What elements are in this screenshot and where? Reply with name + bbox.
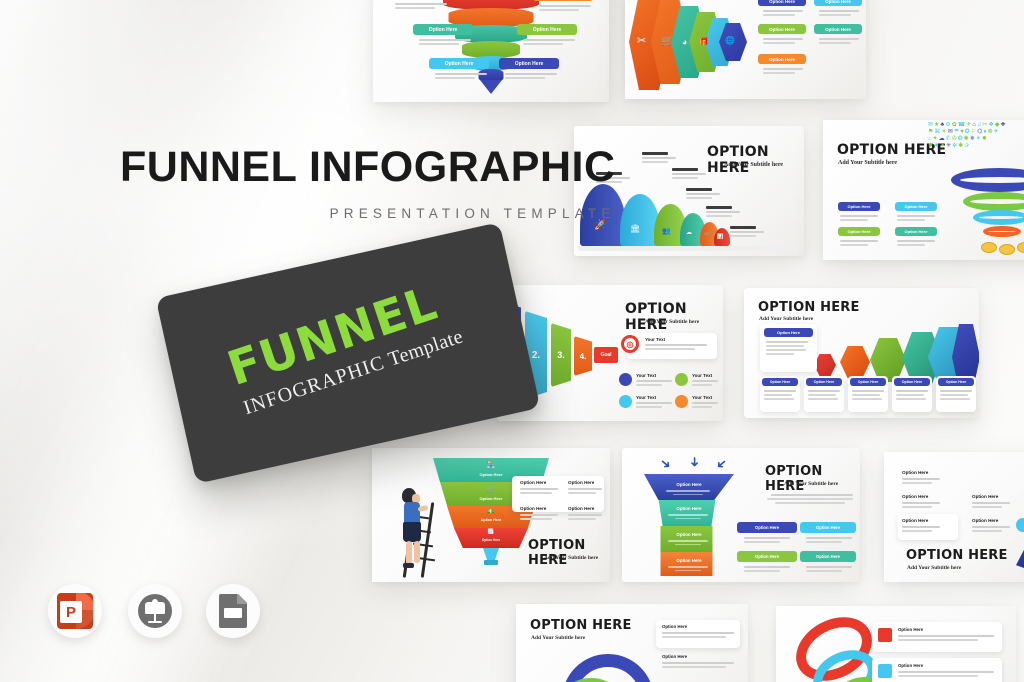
desc-lines	[764, 390, 796, 402]
band-label: Option Here	[676, 558, 701, 563]
slide-subtitle: Add Your Subtitle here	[544, 555, 598, 561]
item-label: Option Here	[662, 624, 687, 629]
item-label: Option Here	[662, 654, 687, 659]
slide-hex-progress[interactable]: OPTION HERE Add Your Subtitle here Optio…	[744, 288, 979, 418]
cart-icon: 🛒	[487, 485, 496, 493]
option-badge[interactable]: Option Here	[499, 58, 559, 69]
shop-icon	[619, 395, 632, 408]
option-badge[interactable]: Option Here	[758, 24, 806, 34]
desc-lines	[435, 73, 487, 81]
rocket-icon: 🚀	[594, 220, 606, 231]
option-badge[interactable]: Option Here	[413, 24, 473, 35]
band-label: Option Here	[676, 482, 701, 487]
badge-label: Option Here	[769, 27, 795, 32]
cart-icon: 🛒	[704, 232, 710, 238]
badge-label: Option Here	[905, 229, 928, 234]
desc-lines	[819, 38, 859, 46]
icon-cloud: ✉★♣⚙✿☎✈⌂♫✂❖◆✚ ⚑⌘☀✉☂♥✪⚐⌬♦❁✈ ⌂✦☁✆✇❂✺✵✴✹ ✸✷…	[928, 122, 1024, 172]
band-label: Option Here	[676, 506, 701, 511]
desc-lines	[568, 514, 602, 522]
desc-lines	[902, 478, 940, 486]
badge-label: Option Here	[946, 380, 967, 384]
pie-icon: ◕	[682, 37, 687, 47]
megaphone-icon	[878, 664, 892, 678]
desc-lines	[539, 5, 591, 13]
badge-label: Option Here	[905, 204, 928, 209]
step-label: 4.	[580, 352, 587, 361]
badge-label: Option Here	[825, 0, 851, 4]
desc-lines	[972, 502, 1010, 510]
badge-label: Option Here	[755, 525, 779, 530]
desc-lines	[897, 215, 935, 223]
money-icon: 💵	[487, 508, 494, 515]
app-badge-powerpoint[interactable]: P	[48, 584, 102, 638]
desc-lines	[419, 39, 471, 47]
item-label: Option Here	[902, 470, 928, 475]
desc-lines	[898, 635, 994, 643]
option-badge[interactable]: Option Here	[938, 378, 974, 386]
badge-label: Option Here	[770, 380, 791, 384]
badge-label: Option Here	[825, 27, 851, 32]
desc-lines	[636, 380, 672, 388]
badge-label: Option Here	[777, 330, 800, 335]
badge-label: Option Here	[858, 380, 879, 384]
slide-subtitle: Add Your Subtitle here	[531, 635, 585, 641]
desc-lines	[645, 344, 707, 352]
rocket-icon	[675, 395, 688, 408]
item-label: Option Here	[520, 480, 546, 485]
ring-3	[973, 210, 1024, 225]
slide-title: OPTION HERE	[707, 144, 804, 176]
app-badge-google-slides[interactable]	[206, 584, 260, 638]
keynote-icon	[138, 594, 172, 628]
option-badge[interactable]: Option Here	[814, 0, 862, 6]
slide-cone-funnel[interactable]: Option Here Option Here Option Here Opti…	[373, 0, 609, 102]
slide-loop-rings[interactable]: Option Here Option Here Option Here	[776, 606, 1016, 682]
slide-title: OPTION HERE	[530, 618, 632, 633]
badge-label: Option Here	[848, 204, 871, 209]
desc-lines	[666, 490, 710, 497]
desc-lines	[692, 380, 718, 388]
badge-label: Option Here	[848, 229, 871, 234]
item-label: Your Text	[692, 373, 712, 378]
slide-subtitle: Add Your Subtitle here	[784, 481, 838, 487]
badge-label: Option Here	[816, 525, 840, 530]
desc-lines	[806, 566, 852, 574]
option-badge[interactable]: Option Here	[806, 378, 842, 386]
woman-ladder-illustration	[394, 486, 446, 578]
slide-title: OPTION HERE	[758, 300, 860, 315]
desc-lines	[902, 502, 940, 510]
option-badge[interactable]: Option Here	[894, 378, 930, 386]
powerpoint-letter: P	[60, 601, 82, 623]
desc-lines	[972, 526, 1010, 534]
option-badge[interactable]: Option Here	[758, 54, 806, 64]
badge-label: Option Here	[429, 27, 458, 33]
google-slides-icon	[219, 594, 247, 628]
slide-ladder-funnel[interactable]: 🏪 Option Here 🛒 Option Here 💵 Option Her…	[372, 448, 610, 582]
slide-side-funnel[interactable]: Option Here Option Here Option Here Opti…	[884, 452, 1024, 582]
badge-label: Option Here	[769, 0, 795, 4]
option-badge[interactable]: Option Here	[800, 522, 856, 533]
slide-subtitle: Add Your Subtitle here	[838, 160, 897, 166]
desc-lines	[763, 68, 803, 76]
slide-title: OPTION HERE	[765, 464, 860, 494]
step-4: 4.	[574, 336, 592, 376]
step-label: 2.	[532, 350, 540, 361]
option-badge[interactable]: Option Here	[758, 0, 806, 6]
desc-lines	[505, 73, 557, 81]
desc-lines	[840, 240, 878, 248]
item-label: Option Here	[902, 494, 928, 499]
badge-label: Option Here	[814, 380, 835, 384]
step-label: 3.	[557, 350, 565, 360]
desc-lines	[662, 632, 734, 640]
callout	[706, 206, 740, 219]
desc-lines	[636, 402, 672, 410]
building-icon: 🏛	[630, 224, 640, 233]
cloud-icon	[1016, 518, 1024, 532]
desc-lines	[744, 537, 790, 545]
desc-lines	[852, 390, 884, 402]
slide-subtitle: Add Your Subtitle here	[759, 316, 813, 322]
slide-subtitle: Add Your Subtitle here	[645, 319, 699, 325]
option-badge[interactable]: Option Here	[850, 378, 886, 386]
desc-lines	[897, 240, 935, 248]
item-label: Your Text	[692, 395, 712, 400]
option-badge[interactable]: Option Here	[895, 202, 937, 211]
cart-icon: 🛒	[661, 36, 673, 47]
hex-stack-graphic: ✂ 🛒 ◕ 🎁 🌐	[629, 0, 747, 94]
globe-icon: 🌐	[725, 36, 735, 45]
gift-icon: 🎁	[699, 37, 709, 46]
badge-label: Option Here	[755, 554, 779, 559]
goal-chip: Goal	[594, 347, 618, 363]
chart-icon: 📊	[717, 234, 723, 240]
desc-lines	[520, 514, 558, 522]
chart-icon: 📈	[488, 529, 494, 535]
badge-label: Option Here	[816, 554, 840, 559]
desc-lines	[520, 488, 558, 496]
item-label: Option Here	[972, 494, 998, 499]
desc-lines	[744, 566, 790, 574]
option-badge[interactable]: Option Here	[838, 227, 880, 236]
slide-arrow-funnel[interactable]: ➜ ➜ ➜ Option Here Option Here Option Her…	[622, 448, 860, 582]
desc-lines	[902, 526, 940, 534]
desc-lines	[765, 494, 853, 506]
badge-label: Option Here	[445, 61, 474, 67]
item-label: Option Here	[898, 627, 923, 632]
powerpoint-icon: P	[57, 593, 93, 629]
desc-lines	[763, 10, 803, 18]
item-label: Your Text	[636, 373, 656, 378]
axis-bar	[578, 246, 798, 251]
poster-canvas: Option Here Option Here Option Here Opti…	[0, 0, 1024, 682]
desc-lines	[668, 566, 708, 573]
callout	[686, 188, 720, 201]
item-label: Option Here	[972, 518, 998, 523]
option-badge[interactable]: Option Here	[517, 24, 577, 35]
option-badge[interactable]: Option Here	[533, 0, 593, 1]
option-badge[interactable]: Option Here	[762, 378, 798, 386]
slide-subtitle: Add Your Subtitle here	[724, 162, 783, 168]
ring-4	[983, 226, 1021, 237]
target-icon: ◎	[621, 335, 639, 353]
band-label: Option Here	[481, 518, 502, 522]
item-label: Option Here	[568, 480, 594, 485]
desc-lines	[763, 38, 803, 46]
cart-icon	[619, 373, 632, 386]
slide-ring-funnel[interactable]: OPTION HERE Add Your Subtitle here ✉★♣⚙✿…	[823, 120, 1024, 260]
step-3: 3.	[551, 323, 571, 387]
desc-lines	[806, 537, 852, 545]
desc-lines	[898, 671, 994, 679]
slide-hex-layers[interactable]: ✂ 🛒 ◕ 🎁 🌐 Add Your Subtitle here Option …	[625, 0, 866, 99]
band-label: Option Here	[482, 538, 500, 542]
desc-lines	[692, 402, 718, 410]
people-icon: 👥	[662, 227, 671, 235]
option-badge[interactable]: Option Here	[429, 58, 489, 69]
slide-title: OPTION HERE	[625, 301, 723, 333]
item-label: Option Here	[520, 506, 546, 511]
desc-lines	[896, 390, 928, 402]
callout	[730, 226, 764, 239]
option-badge[interactable]: Option Here	[895, 227, 937, 236]
slide-title: OPTION HERE	[906, 548, 1008, 563]
option-badge[interactable]: Option Here	[838, 202, 880, 211]
option-badge[interactable]: Option Here	[814, 24, 862, 34]
badge-label: Option Here	[769, 57, 795, 62]
item-label: Option Here	[568, 506, 594, 511]
callout	[672, 168, 706, 181]
desc-lines	[568, 488, 602, 496]
slide-title: OPTION HERE	[528, 538, 610, 568]
server-icon	[878, 628, 892, 642]
page-title: FUNNEL INFOGRAPHIC	[120, 146, 616, 189]
arc-graphic	[552, 650, 662, 682]
desc-lines	[523, 39, 575, 47]
badge-label: Option Here	[515, 61, 544, 67]
item-label: Your Text	[645, 337, 665, 342]
desc-lines	[766, 341, 808, 357]
coin-icon	[981, 242, 997, 253]
option-badge[interactable]: Option Here	[737, 551, 797, 562]
page-headline: FUNNEL INFOGRAPHIC PRESENTATION TEMPLATE	[120, 146, 616, 221]
desc-lines	[940, 390, 972, 402]
option-badge[interactable]: Option Here	[800, 551, 856, 562]
cloud-icon: ☁	[686, 229, 692, 236]
band-label: Option Here	[480, 496, 503, 501]
coin-icon	[999, 244, 1015, 255]
item-label: Option Here	[898, 663, 923, 668]
page-subtitle: PRESENTATION TEMPLATE	[120, 206, 616, 221]
badge-label: Option Here	[533, 27, 562, 33]
band-label: Option Here	[480, 472, 503, 477]
option-badge[interactable]: Option Here	[764, 328, 813, 337]
goal-label: Goal	[600, 352, 611, 358]
desc-lines	[668, 514, 708, 521]
desc-lines	[840, 215, 878, 223]
option-badge[interactable]: Option Here	[737, 522, 797, 533]
item-label: Your Text	[636, 395, 656, 400]
desc-lines	[819, 10, 859, 18]
app-badge-keynote[interactable]	[128, 584, 182, 638]
desc-lines	[668, 540, 708, 547]
badge-label: Option Here	[902, 380, 923, 384]
desc-lines	[395, 3, 447, 11]
shop-icon: 🏪	[487, 461, 496, 469]
item-label: Option Here	[902, 518, 928, 523]
arrow-down-icon: ➜	[686, 457, 702, 468]
desc-lines	[662, 662, 734, 670]
slide-subtitle: Add Your Subtitle here	[907, 565, 961, 571]
tools-icon: ✂	[637, 34, 646, 47]
curved-funnel-graphic: Option Here Option Here Option Here Opti…	[644, 474, 734, 574]
band-label: Option Here	[676, 532, 701, 537]
callout	[642, 152, 676, 165]
box-icon	[675, 373, 688, 386]
desc-lines	[808, 390, 840, 402]
slide-arc-funnel[interactable]: OPTION HERE Add Your Subtitle here Optio…	[516, 604, 748, 682]
